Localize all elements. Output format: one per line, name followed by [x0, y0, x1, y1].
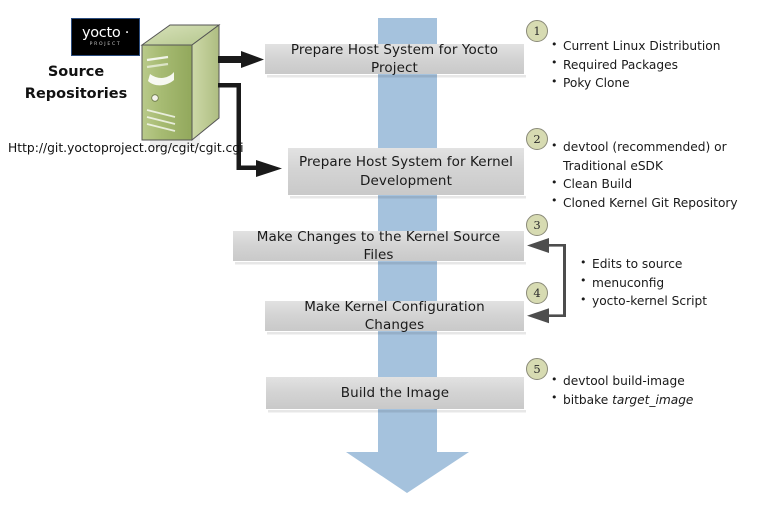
step-2-bullet-list: devtool (recommended) or Traditional eSD…	[551, 138, 766, 212]
step-box-prepare-host-kernel[interactable]: Prepare Host System for Kernel Developme…	[288, 148, 524, 195]
list-item-italic-token: target_image	[612, 393, 693, 407]
list-item: Current Linux Distribution	[551, 37, 766, 56]
list-item: Cloned Kernel Git Repository	[551, 194, 766, 213]
server-tower-icon	[142, 25, 219, 148]
source-repositories-url: Http://git.yoctoproject.org/cgit/cgit.cg…	[8, 141, 230, 155]
connector-bracket-steps-3-4	[527, 238, 566, 323]
step-badge-5: 5	[526, 358, 548, 380]
step-box-make-kernel-config-changes[interactable]: Make Kernel Configuration Changes	[265, 301, 524, 331]
step-5-bullet-list: devtool build-image bitbake target_image	[551, 372, 766, 409]
step-box-build-image[interactable]: Build the Image	[266, 377, 524, 409]
list-item: Clean Build	[551, 175, 766, 194]
steps-3-4-shared-bullet-list: Edits to source menuconfig yocto-kernel …	[580, 255, 760, 311]
list-item: Required Packages	[551, 56, 766, 75]
step-1-bullet-list: Current Linux Distribution Required Pack…	[551, 37, 766, 93]
step-badge-1: 1	[526, 20, 548, 42]
list-item: devtool build-image	[551, 372, 766, 391]
diagram-canvas: yocto · PROJECT Source Repositories Http…	[0, 0, 769, 517]
list-item: Poky Clone	[551, 74, 766, 93]
source-repositories-label: Source Repositories	[14, 62, 138, 106]
step-badge-3: 3	[526, 214, 548, 236]
list-item: yocto-kernel Script	[580, 292, 760, 311]
logo-subwordmark: PROJECT	[90, 43, 122, 48]
list-item: bitbake target_image	[551, 391, 766, 410]
connector-server-to-step2	[218, 83, 282, 177]
step-box-make-kernel-source-changes[interactable]: Make Changes to the Kernel Source Files	[233, 231, 524, 261]
step-badge-2: 2	[526, 128, 548, 150]
logo-wordmark: yocto ·	[82, 26, 129, 41]
list-item-prefix: bitbake	[563, 393, 612, 407]
list-item: Edits to source	[580, 255, 760, 274]
step-badge-4: 4	[526, 282, 548, 304]
list-item: devtool (recommended) or Traditional eSD…	[551, 138, 766, 175]
connector-server-to-step1	[218, 51, 264, 68]
step-box-prepare-host-yocto[interactable]: Prepare Host System for Yocto Project	[265, 44, 524, 74]
list-item: menuconfig	[580, 274, 760, 293]
yocto-project-logo: yocto · PROJECT	[71, 18, 140, 56]
